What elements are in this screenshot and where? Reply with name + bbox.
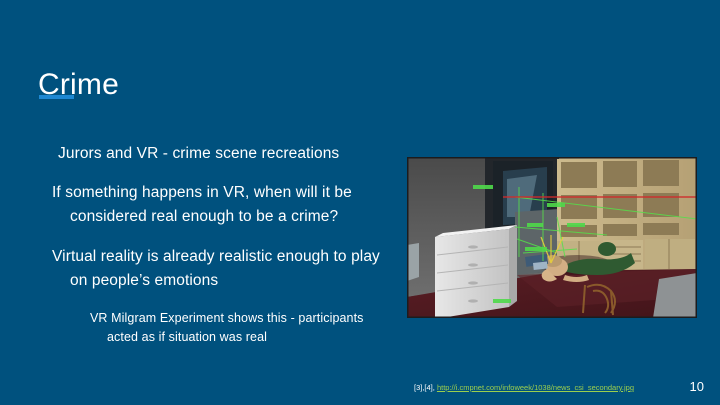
bullet-list: Jurors and VR - crime scene recreations … xyxy=(52,126,392,359)
bullet-item: Virtual reality is already realistic eno… xyxy=(52,245,392,293)
bullet-item: Jurors and VR - crime scene recreations xyxy=(52,142,392,166)
bullet-item: If something happens in VR, when will it… xyxy=(52,181,392,229)
image-citation: [3],[4], http://i.cmpnet.com/infoweek/10… xyxy=(414,383,634,393)
slide: Crime Jurors and VR - crime scene recrea… xyxy=(0,0,720,405)
title-accent-bar xyxy=(39,95,74,99)
citation-refs: [3],[4], xyxy=(414,383,437,392)
crime-scene-illustration xyxy=(407,157,697,318)
citation-url-link[interactable]: http://i.cmpnet.com/infoweek/1038/news_c… xyxy=(437,383,634,392)
crime-scene-image xyxy=(407,157,697,318)
page-number: 10 xyxy=(690,379,704,395)
sub-bullet-item: VR Milgram Experiment shows this - parti… xyxy=(52,309,392,347)
